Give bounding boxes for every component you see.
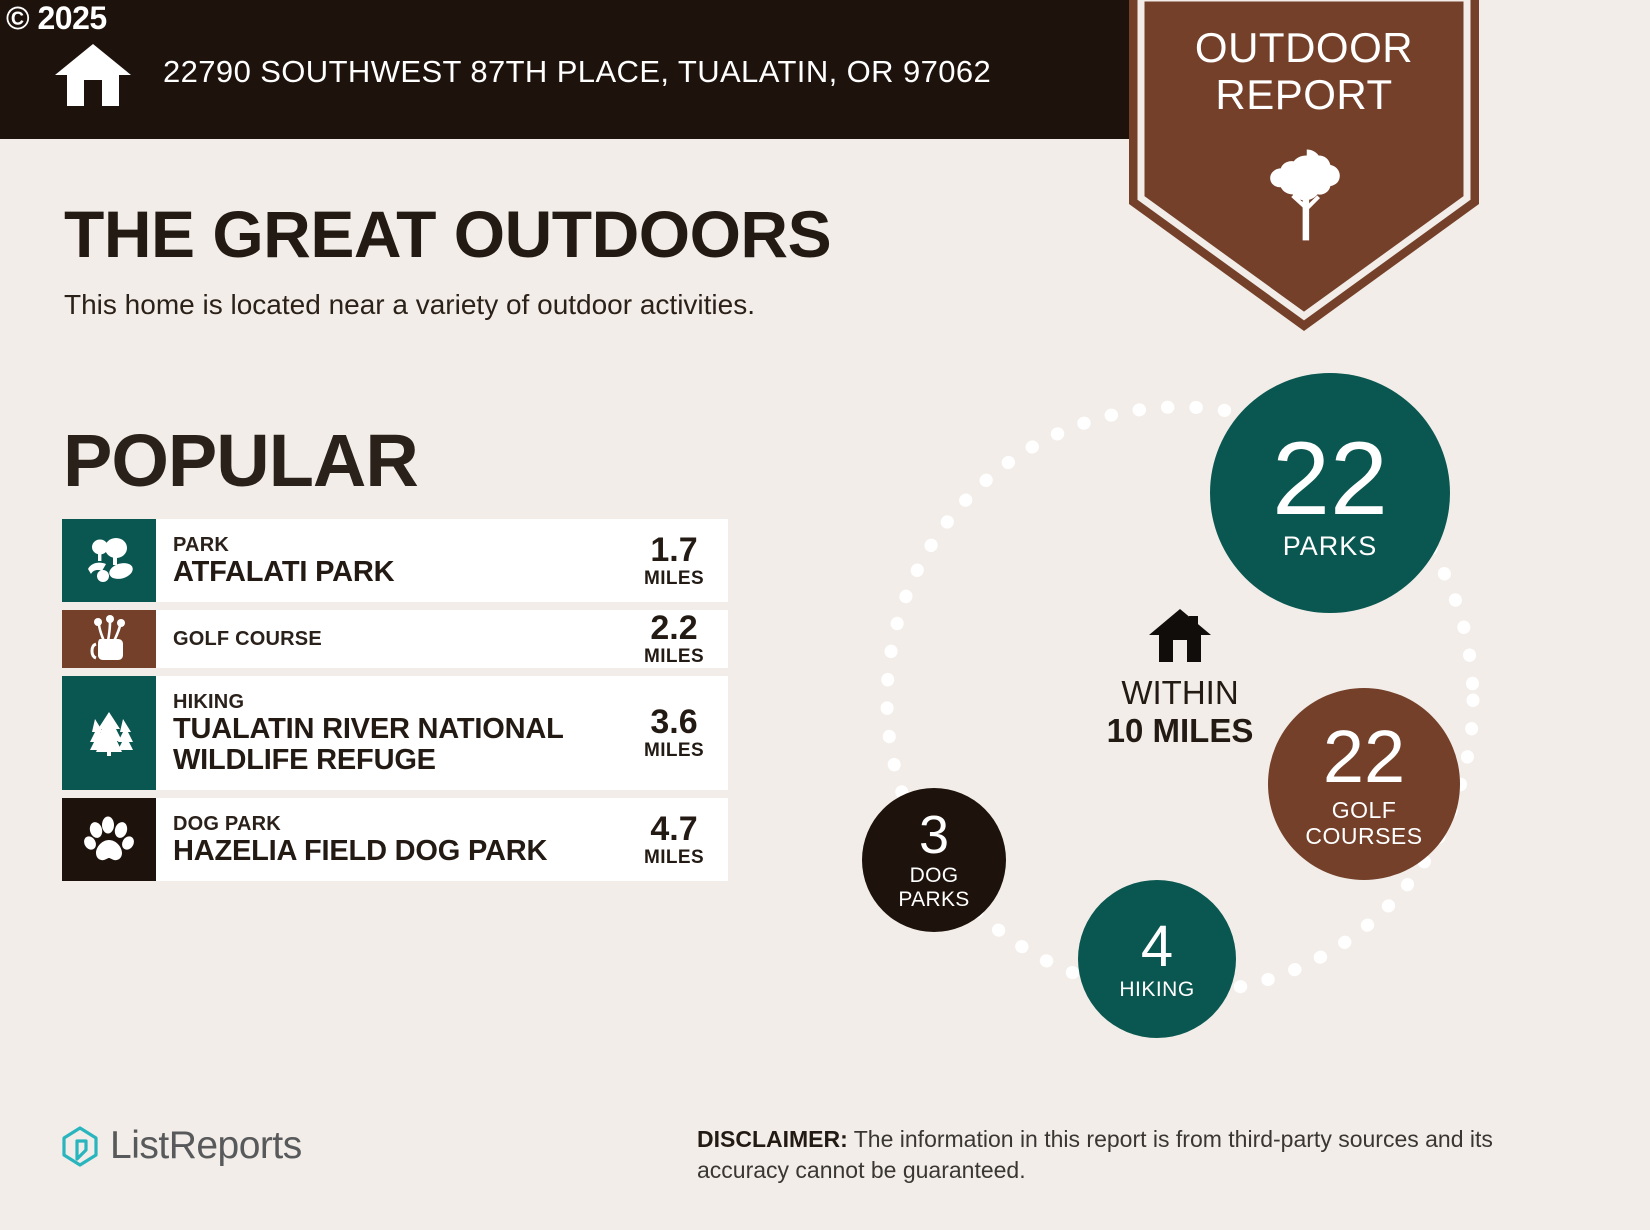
diagram-center-line1: WITHIN xyxy=(1030,674,1330,712)
distance-value: 2.2 xyxy=(650,610,697,646)
popular-heading: POPULAR xyxy=(63,418,418,503)
count-label-line2: PARKS xyxy=(898,888,969,912)
count-circle-dog-parks[interactable]: 3 DOG PARKS xyxy=(862,788,1006,932)
list-item-name: TUALATIN RIVER NATIONAL WILDLIFE REFUGE xyxy=(173,714,624,776)
disclaimer-label: DISCLAIMER: xyxy=(697,1126,848,1152)
list-item[interactable]: PARK ATFALATI PARK 1.7 MILES xyxy=(62,519,728,602)
listreports-house-icon xyxy=(60,1125,100,1167)
list-item-category: DOG PARK xyxy=(173,812,624,836)
count-label: GOLF COURSES xyxy=(1305,797,1422,849)
property-address: 22790 SOUTHWEST 87TH PLACE, TUALATIN, OR… xyxy=(163,54,991,90)
distance-value: 3.6 xyxy=(650,704,697,740)
listreports-wordmark: ListReports xyxy=(110,1124,302,1168)
distance-unit: MILES xyxy=(644,740,704,762)
list-item-category: PARK xyxy=(173,533,624,557)
list-item[interactable]: HIKING TUALATIN RIVER NATIONAL WILDLIFE … xyxy=(62,676,728,790)
paw-print-icon xyxy=(62,798,156,881)
count-circle-hiking[interactable]: 4 HIKING xyxy=(1078,880,1236,1038)
count-value: 4 xyxy=(1141,918,1173,976)
count-value: 22 xyxy=(1323,720,1405,794)
header-bar: © 2025 22790 SOUTHWEST 87TH PLACE, TUALA… xyxy=(0,0,1180,139)
distance-value: 1.7 xyxy=(650,532,697,568)
outdoor-report-badge: OUTDOOR REPORT xyxy=(1129,0,1479,331)
badge-title: OUTDOOR REPORT xyxy=(1129,24,1479,118)
popular-places-list: PARK ATFALATI PARK 1.7 MILES GOLF COURSE… xyxy=(62,519,728,889)
list-item-distance: 1.7 MILES xyxy=(628,519,728,602)
list-item-distance: 4.7 MILES xyxy=(628,798,728,881)
count-circle-parks[interactable]: 22 PARKS xyxy=(1210,373,1450,613)
badge-title-line1: OUTDOOR xyxy=(1129,24,1479,71)
golf-bag-icon xyxy=(62,610,156,668)
pine-trees-icon xyxy=(62,676,156,790)
count-label: PARKS xyxy=(1283,533,1378,560)
list-item-text: DOG PARK HAZELIA FIELD DOG PARK xyxy=(156,798,628,881)
list-item-category: HIKING xyxy=(173,690,624,714)
list-item-name: ATFALATI PARK xyxy=(173,557,624,588)
disclaimer: DISCLAIMER: The information in this repo… xyxy=(697,1124,1527,1186)
distance-unit: MILES xyxy=(644,568,704,590)
list-item-text: PARK ATFALATI PARK xyxy=(156,519,628,602)
park-tree-icon xyxy=(62,519,156,602)
count-label: DOG PARKS xyxy=(898,864,969,912)
list-item-distance: 3.6 MILES xyxy=(628,676,728,790)
count-label: HIKING xyxy=(1119,979,1194,1000)
page-title: THE GREAT OUTDOORS xyxy=(64,196,831,272)
house-icon xyxy=(55,42,131,106)
badge-title-line2: REPORT xyxy=(1129,71,1479,118)
list-item-category: GOLF COURSE xyxy=(173,627,624,651)
list-item-name: HAZELIA FIELD DOG PARK xyxy=(173,836,624,867)
count-value: 3 xyxy=(919,808,949,862)
page-subtitle: This home is located near a variety of o… xyxy=(64,289,755,321)
copyright-label: © 2025 xyxy=(6,2,107,34)
within-10-miles-diagram: WITHIN 10 MILES 22 PARKS 22 GOLF COURSES… xyxy=(830,350,1530,1050)
list-item-distance: 2.2 MILES xyxy=(628,610,728,668)
distance-unit: MILES xyxy=(644,847,704,869)
distance-value: 4.7 xyxy=(650,811,697,847)
distance-unit: MILES xyxy=(644,646,704,668)
house-icon xyxy=(1149,608,1211,662)
count-label-line1: GOLF xyxy=(1305,797,1422,823)
list-item-text: GOLF COURSE xyxy=(156,610,628,668)
listreports-logo[interactable]: ListReports xyxy=(60,1124,302,1168)
count-circle-golf-courses[interactable]: 22 GOLF COURSES xyxy=(1268,688,1460,880)
count-label-line2: COURSES xyxy=(1305,823,1422,849)
list-item[interactable]: GOLF COURSE 2.2 MILES xyxy=(62,610,728,668)
count-value: 22 xyxy=(1272,427,1388,531)
count-label-line1: DOG xyxy=(898,864,969,888)
list-item-text: HIKING TUALATIN RIVER NATIONAL WILDLIFE … xyxy=(156,676,628,790)
list-item[interactable]: DOG PARK HAZELIA FIELD DOG PARK 4.7 MILE… xyxy=(62,798,728,881)
